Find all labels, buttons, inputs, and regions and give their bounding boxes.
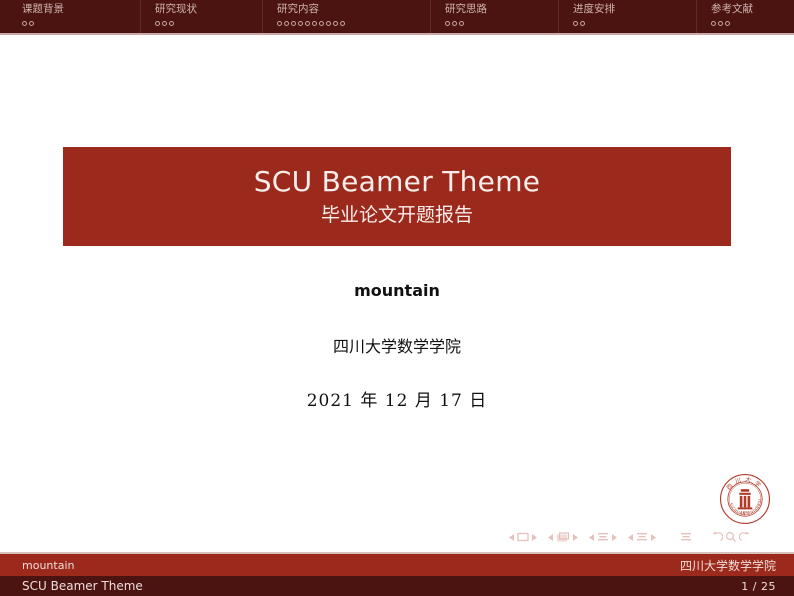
nav-slide-dot[interactable]: [573, 21, 578, 26]
nav-section-label: 课题背景: [22, 3, 140, 16]
footer-institute: 四川大学数学学院: [680, 554, 776, 576]
subsection-nav-group[interactable]: [588, 532, 618, 543]
nav-section-1[interactable]: 课题背景: [0, 0, 140, 33]
nav-section-label: 研究现状: [155, 3, 262, 16]
prev-frame-icon[interactable]: [547, 533, 554, 542]
nav-section-dots[interactable]: [277, 18, 430, 29]
section-icon[interactable]: [636, 532, 648, 543]
next-frame-icon[interactable]: [572, 533, 579, 542]
nav-section-dots[interactable]: [155, 18, 262, 29]
nav-slide-dot[interactable]: [711, 21, 716, 26]
nav-section-3[interactable]: 研究内容: [262, 0, 430, 33]
document-icon[interactable]: [680, 532, 692, 543]
nav-slide-dot[interactable]: [29, 21, 34, 26]
nav-slide-dot[interactable]: [718, 21, 723, 26]
goto-icon[interactable]: [739, 531, 751, 543]
frame-nav-group[interactable]: [547, 532, 579, 543]
frame-icon[interactable]: [556, 532, 570, 543]
section-nav-group[interactable]: [627, 532, 657, 543]
prev-subsection-icon[interactable]: [588, 533, 595, 542]
find-icon[interactable]: [725, 531, 737, 543]
nav-section-dots[interactable]: [573, 18, 696, 29]
nav-slide-dot[interactable]: [333, 21, 338, 26]
nav-slide-dot[interactable]: [725, 21, 730, 26]
nav-section-6[interactable]: 参考文献: [696, 0, 772, 33]
nav-section-dots[interactable]: [711, 18, 772, 29]
nav-slide-dot[interactable]: [340, 21, 345, 26]
nav-section-dots[interactable]: [445, 18, 558, 29]
next-section-icon[interactable]: [650, 533, 657, 542]
nav-section-2[interactable]: 研究现状: [140, 0, 262, 33]
slide-icon[interactable]: [517, 532, 529, 542]
nav-slide-dot[interactable]: [459, 21, 464, 26]
footer-author-bar: mountain 四川大学数学学院: [0, 554, 794, 576]
page-title: SCU Beamer Theme: [254, 165, 541, 199]
presentation-date: 2021 年 12 月 17 日: [0, 386, 794, 411]
nav-slide-dot[interactable]: [319, 21, 324, 26]
footer-title-bar: SCU Beamer Theme 1 / 25: [0, 576, 794, 596]
nav-slide-dot[interactable]: [326, 21, 331, 26]
next-subsection-icon[interactable]: [611, 533, 618, 542]
nav-slide-dot[interactable]: [22, 21, 27, 26]
footer-title: SCU Beamer Theme: [22, 576, 143, 596]
institute-name: 四川大学数学学院: [0, 333, 794, 357]
nav-slide-dot[interactable]: [277, 21, 282, 26]
nav-slide-dot[interactable]: [162, 21, 167, 26]
nav-slide-dot[interactable]: [445, 21, 450, 26]
nav-slide-dot[interactable]: [312, 21, 317, 26]
nav-section-label: 参考文献: [711, 3, 772, 16]
nav-section-4[interactable]: 研究思路: [430, 0, 558, 33]
nav-section-label: 研究思路: [445, 3, 558, 16]
presentation-slide: 课题背景研究现状研究内容研究思路进度安排参考文献 SCU Beamer Them…: [0, 0, 794, 596]
document-nav-group[interactable]: [680, 532, 692, 543]
tools-nav-group[interactable]: [711, 531, 751, 543]
title-block: SCU Beamer Theme 毕业论文开题报告: [63, 147, 731, 246]
footer-author: mountain: [22, 554, 74, 576]
slide-nav-group[interactable]: [508, 532, 538, 542]
nav-section-label: 进度安排: [573, 3, 696, 16]
nav-slide-dot[interactable]: [452, 21, 457, 26]
nav-slide-dot[interactable]: [580, 21, 585, 26]
page-subtitle: 毕业论文开题报告: [321, 201, 473, 229]
header-rule: [0, 33, 794, 35]
beamer-navigation-symbols[interactable]: [508, 529, 783, 545]
nav-slide-dot[interactable]: [169, 21, 174, 26]
author-name: mountain: [0, 281, 794, 300]
nav-section-dots[interactable]: [22, 18, 140, 29]
nav-slide-dot[interactable]: [305, 21, 310, 26]
next-slide-icon[interactable]: [531, 533, 538, 542]
footer-page-number: 1 / 25: [741, 576, 776, 596]
sichuan-university-seal-icon: 四川大学 SICHUAN UNIVERSITY 1896: [719, 473, 771, 525]
svg-text:1896: 1896: [741, 511, 750, 515]
nav-slide-dot[interactable]: [298, 21, 303, 26]
subsection-icon[interactable]: [597, 532, 609, 543]
nav-slide-dot[interactable]: [155, 21, 160, 26]
nav-section-label: 研究内容: [277, 3, 430, 16]
nav-section-5[interactable]: 进度安排: [558, 0, 696, 33]
prev-section-icon[interactable]: [627, 533, 634, 542]
nav-slide-dot[interactable]: [284, 21, 289, 26]
back-icon[interactable]: [711, 531, 723, 543]
section-navigation-bar: 课题背景研究现状研究内容研究思路进度安排参考文献: [0, 0, 794, 33]
nav-slide-dot[interactable]: [291, 21, 296, 26]
prev-slide-icon[interactable]: [508, 533, 515, 542]
